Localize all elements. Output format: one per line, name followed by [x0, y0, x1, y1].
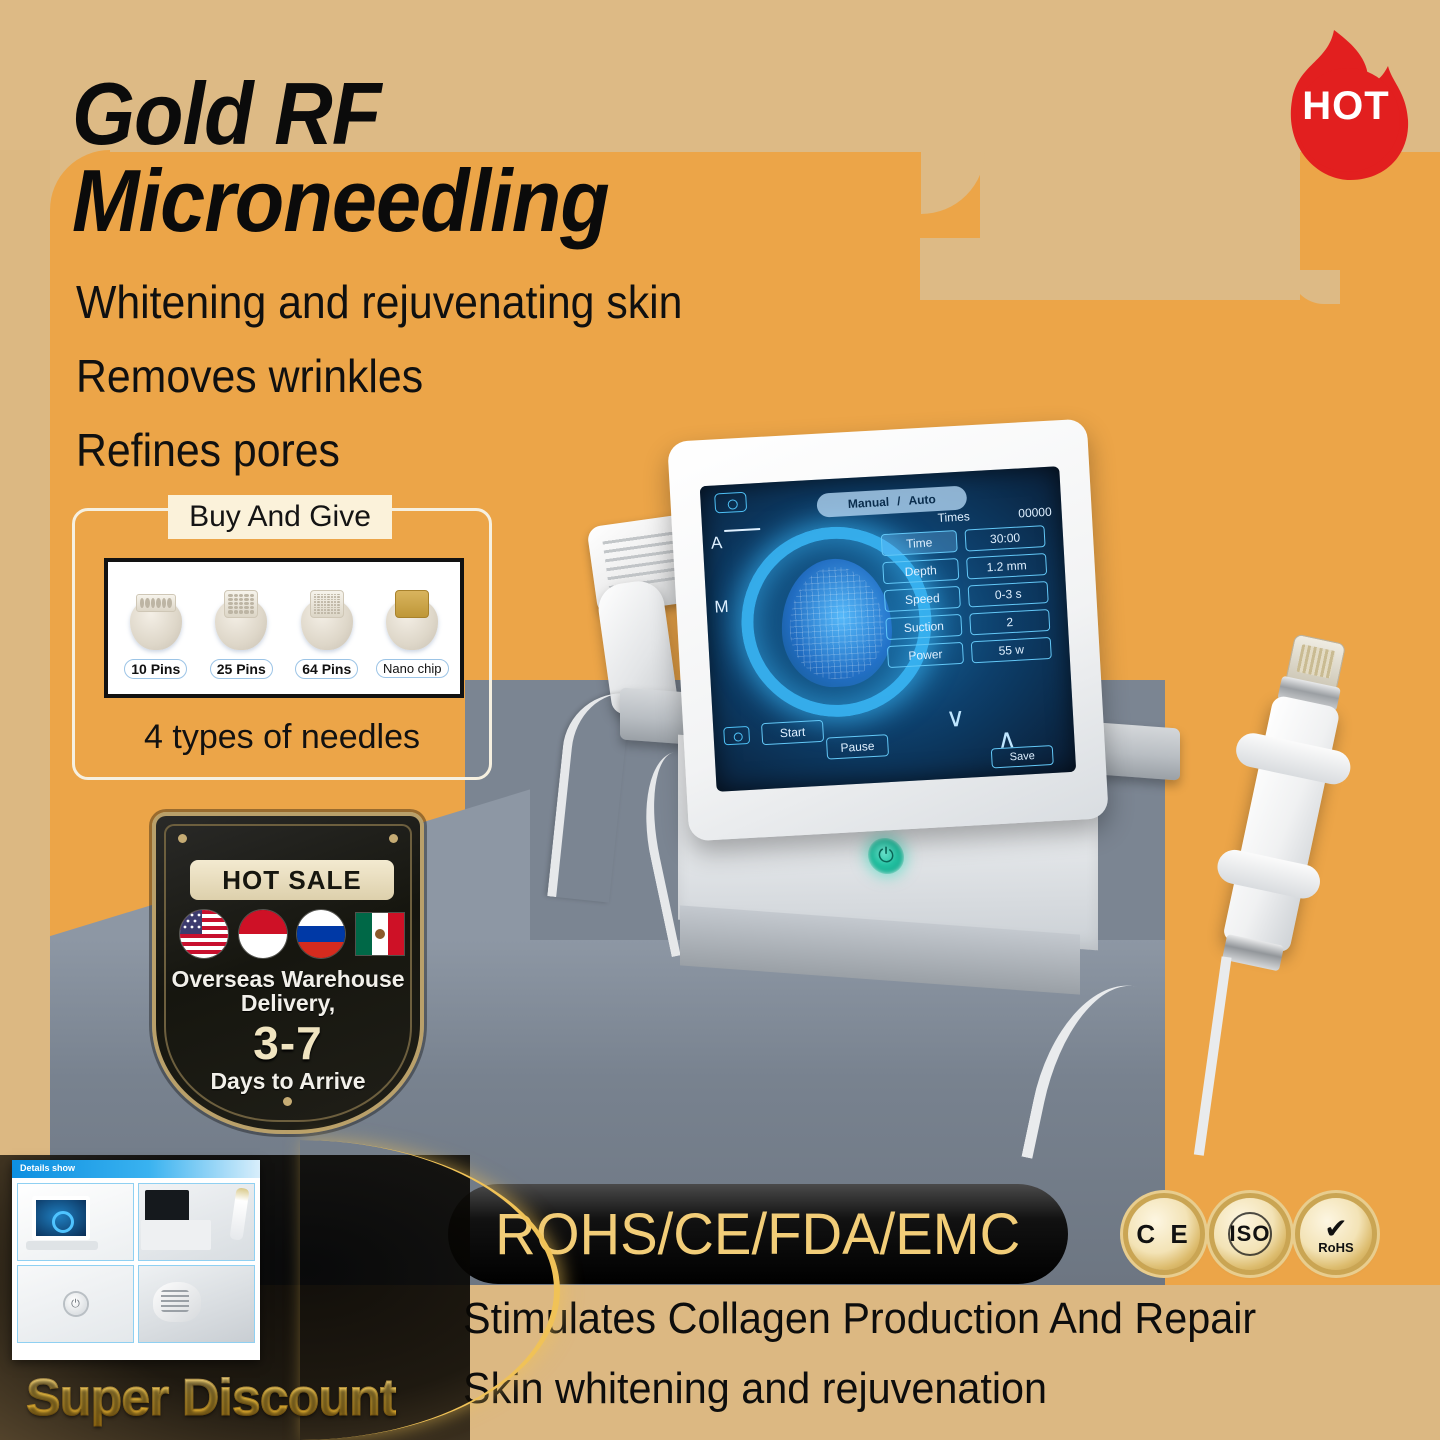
benefit-text-1: Whitening and rejuvenating skin — [76, 275, 682, 329]
russia-flag-icon — [297, 910, 345, 958]
shield-delivery-text: Overseas Warehouse Delivery, — [156, 968, 420, 1016]
check-icon: ✔ — [1324, 1215, 1347, 1243]
cartridge-25pins-icon — [209, 582, 273, 656]
param-value-suction[interactable]: 2 — [969, 609, 1050, 635]
param-value-depth[interactable]: 1.2 mm — [966, 553, 1047, 579]
label-m: M — [714, 597, 729, 618]
needle-label: 64 Pins — [295, 659, 358, 679]
param-key-depth[interactable]: Depth — [882, 558, 959, 584]
mexico-flag-icon — [356, 913, 404, 955]
camera-icon-secondary[interactable] — [723, 726, 750, 745]
times-value: 00000 — [1018, 505, 1052, 521]
headline-line-1: Gold RF — [72, 64, 380, 163]
gift-box-caption: 4 types of needles — [72, 718, 492, 757]
panel-top-right-notch — [980, 150, 1300, 300]
needle-item: 64 Pins — [285, 582, 369, 679]
device-touchscreen[interactable]: Manual / Auto A M Times 00000 Time 30:00… — [700, 466, 1077, 792]
tagline-1: Stimulates Collagen Production And Repai… — [463, 1294, 1256, 1344]
mode-divider: / — [897, 494, 901, 508]
flag-row — [180, 910, 404, 958]
shield-line-3: Days to Arrive — [156, 1068, 420, 1095]
parameter-list: Time 30:00 Depth 1.2 mm Speed 0-3 s Suct… — [881, 524, 1065, 674]
benefit-text-2: Removes wrinkles — [76, 349, 423, 403]
screw-icon — [389, 834, 398, 843]
cartridge-10pins-icon — [124, 582, 188, 656]
gift-box-title: Buy And Give — [168, 495, 392, 539]
cartridge-64pins-icon — [295, 582, 359, 656]
iso-medal-icon: ISO — [1214, 1198, 1286, 1270]
globe-icon — [1228, 1212, 1272, 1256]
shield-line-2: Delivery, — [241, 990, 335, 1016]
screw-icon — [283, 1097, 292, 1106]
hot-sale-label: HOT SALE — [190, 860, 394, 900]
param-value-power[interactable]: 55 w — [971, 637, 1052, 663]
details-show-panel: Details show ⏻ — [12, 1160, 260, 1360]
product-machine: ⏻ Manual / Auto A M Times 00000 — [500, 420, 1200, 1060]
pause-button[interactable]: Pause — [826, 734, 889, 759]
needle-label: 25 Pins — [210, 659, 273, 679]
times-label: Times — [937, 509, 970, 525]
cartridge-nanochip-icon — [380, 582, 444, 656]
camera-icon[interactable] — [714, 492, 747, 514]
ce-medal-icon: C E — [1128, 1198, 1200, 1270]
screw-icon — [178, 834, 187, 843]
tagline-2: Skin whitening and rejuvenation — [463, 1364, 1047, 1414]
needles-card: 10 Pins 25 Pins 64 Pins — [104, 558, 464, 698]
tab-manual[interactable]: Manual — [847, 495, 889, 511]
needle-item: 25 Pins — [200, 582, 284, 679]
needle-label: 10 Pins — [124, 659, 187, 679]
certification-banner-text: ROHS/CE/FDA/EMC — [495, 1201, 1020, 1268]
thumbnail-monitor[interactable] — [17, 1183, 134, 1261]
product-poster: Gold RF Microneedling Whitening and reju… — [0, 0, 1440, 1440]
param-key-power[interactable]: Power — [887, 642, 964, 668]
needle-item: 10 Pins — [114, 582, 198, 679]
thumbnail-grid: ⏻ — [12, 1178, 260, 1348]
usa-flag-icon — [180, 910, 228, 958]
needle-item: Nano chip — [371, 582, 455, 678]
handpiece-cable — [547, 687, 631, 902]
parameter-row: Speed 0-3 s — [884, 580, 1061, 612]
label-a: A — [710, 533, 722, 554]
thumbnail-handpiece[interactable] — [138, 1265, 255, 1343]
handpiece-body — [1222, 694, 1340, 953]
chevron-down-icon[interactable]: ∨ — [945, 704, 965, 731]
indonesia-flag-icon — [239, 910, 287, 958]
shield-days-number: 3-7 — [156, 1016, 420, 1070]
param-value-time[interactable]: 30:00 — [965, 525, 1046, 551]
needle-label: Nano chip — [376, 659, 449, 678]
rohs-medal-icon: ✔ RoHS — [1300, 1198, 1372, 1270]
thumbnail-power-button[interactable]: ⏻ — [17, 1265, 134, 1343]
power-icon: ⏻ — [878, 845, 894, 866]
hot-badge: HOT — [1276, 22, 1416, 182]
super-discount-label: Super Discount — [26, 1368, 396, 1428]
thumbnail-device-handpiece[interactable] — [138, 1183, 255, 1261]
details-panel-header: Details show — [12, 1160, 260, 1178]
parameter-row: Time 30:00 — [881, 524, 1058, 556]
param-key-time[interactable]: Time — [881, 530, 958, 556]
page-title: Gold RF Microneedling — [72, 70, 826, 244]
rohs-medal-label: RoHS — [1318, 1241, 1353, 1254]
headline-line-2: Microneedling — [72, 157, 826, 244]
shield-line-1: Overseas Warehouse — [171, 966, 404, 992]
touchscreen-monitor: Manual / Auto A M Times 00000 Time 30:00… — [667, 419, 1109, 842]
hot-badge-label: HOT — [1276, 84, 1416, 129]
certification-medals: C E ISO ✔ RoHS — [1128, 1198, 1372, 1270]
ce-medal-label: C E — [1136, 1219, 1191, 1250]
parameter-row: Suction 2 — [885, 608, 1062, 640]
power-icon: ⏻ — [65, 1293, 87, 1315]
param-key-suction[interactable]: Suction — [885, 614, 962, 640]
tab-auto[interactable]: Auto — [908, 492, 936, 508]
param-value-speed[interactable]: 0-3 s — [968, 581, 1049, 607]
start-button[interactable]: Start — [761, 720, 824, 745]
param-key-speed[interactable]: Speed — [884, 586, 961, 612]
parameter-row: Power 55 w — [887, 636, 1064, 668]
hot-sale-shield-badge: HOT SALE Overseas Warehouse Delivery, — [152, 812, 424, 1134]
save-button[interactable]: Save — [991, 745, 1054, 768]
parameter-row: Depth 1.2 mm — [882, 552, 1059, 584]
